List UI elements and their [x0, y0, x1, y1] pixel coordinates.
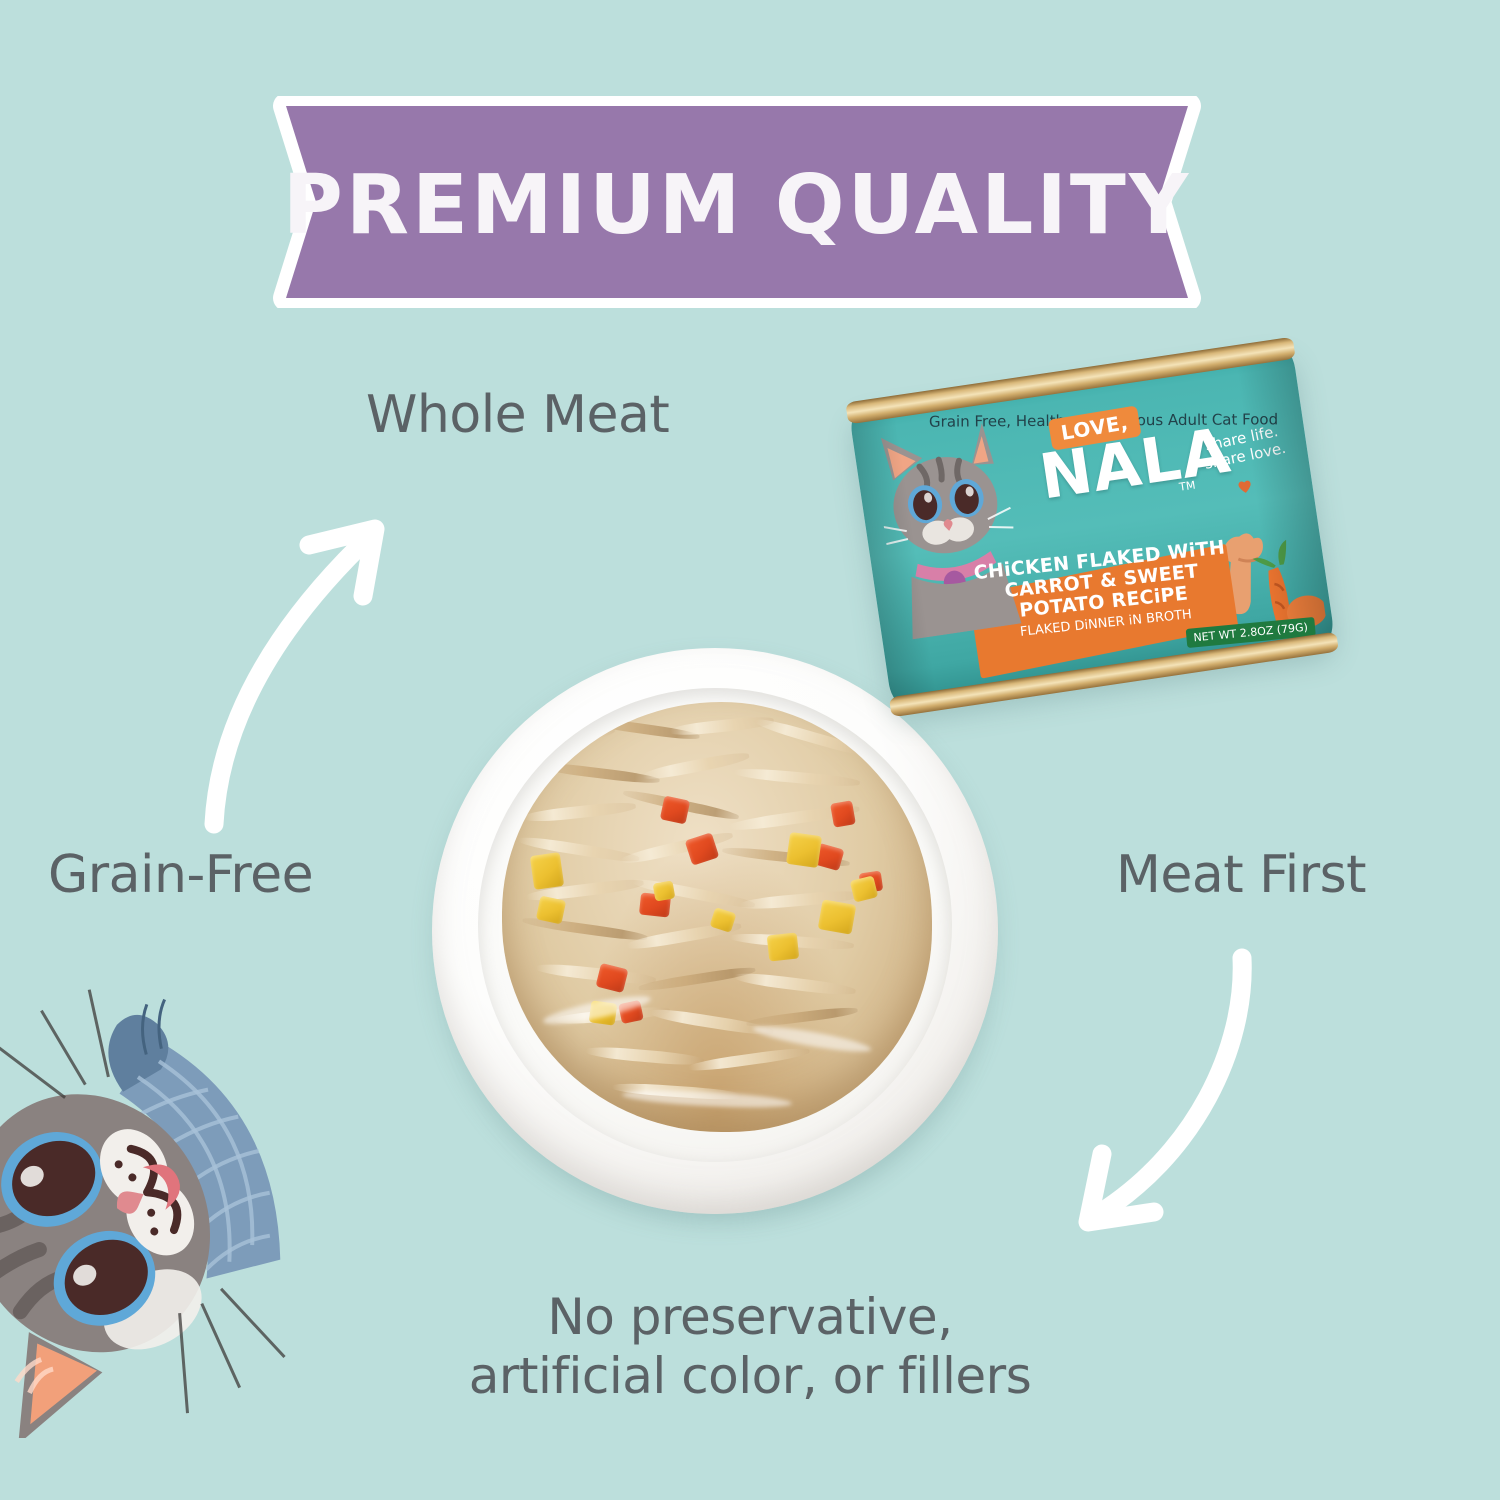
product-can: Grain Free, Healthy & Delicious Adult Ca… — [852, 356, 1352, 726]
feature-label-no-preservative: No preservative, artificial color, or fi… — [0, 1288, 1500, 1406]
food-bowl — [424, 648, 1012, 1236]
feature-label-meat-first: Meat First — [1116, 845, 1366, 906]
no-preservative-line2: artificial color, or fillers — [0, 1347, 1500, 1406]
infographic-canvas: PREMIUM QUALITY — [0, 0, 1500, 1500]
feature-label-whole-meat: Whole Meat — [366, 385, 669, 446]
arrow-from-meat-first-icon — [1046, 936, 1286, 1246]
sweet-potato-dice — [530, 852, 564, 890]
sweet-potato-dice — [850, 875, 879, 902]
carrot-dice — [660, 796, 690, 825]
arrow-to-whole-meat-icon — [178, 498, 418, 838]
can-rotated-group: Grain Free, Healthy & Delicious Adult Ca… — [848, 343, 1336, 709]
premium-quality-banner: PREMIUM QUALITY — [272, 96, 1202, 308]
sweet-potato-dice — [786, 832, 822, 868]
sweet-potato-dice — [818, 899, 857, 934]
banner-title: PREMIUM QUALITY — [272, 96, 1202, 308]
feature-label-grain-free: Grain-Free — [48, 845, 313, 906]
sweet-potato-dice — [536, 896, 566, 925]
sweet-potato-dice — [653, 880, 676, 901]
food-mound — [502, 702, 932, 1132]
no-preservative-line1: No preservative, — [0, 1288, 1500, 1347]
carrot-dice — [596, 963, 629, 993]
sweet-potato-dice — [767, 933, 800, 962]
can-trademark-symbol: TM — [1178, 479, 1196, 494]
carrot-dice — [830, 800, 856, 827]
